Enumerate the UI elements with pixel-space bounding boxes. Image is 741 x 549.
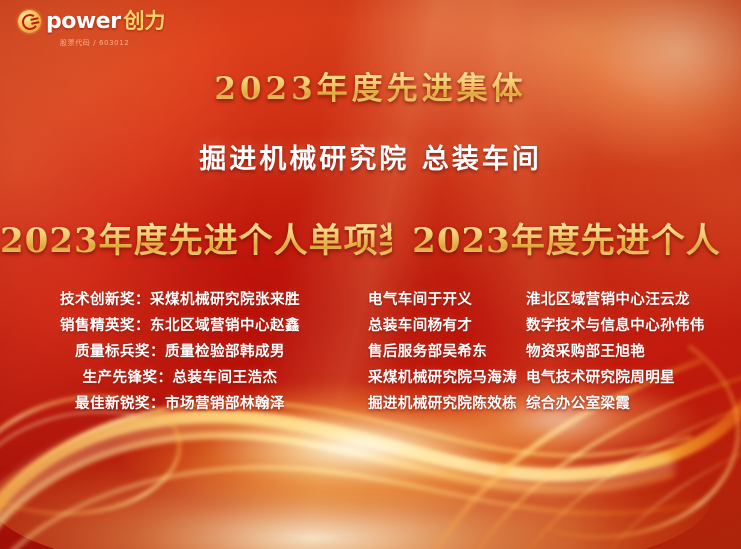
special-award-list: 技术创新奖：采煤机械研究院张来胜 销售精英奖：东北区域营销中心赵鑫 质量标兵奖：… bbox=[0, 287, 360, 417]
award-poster: power 创力 股票代码 / 603012 2023年度先进集体 掘进机械研究… bbox=[0, 0, 741, 549]
list-item: 电气车间于开义 淮北区域营销中心汪云龙 bbox=[360, 287, 741, 313]
logo-name-cn: 创力 bbox=[123, 11, 165, 32]
list-item: 采煤机械研究院马海涛 电气技术研究院周明星 bbox=[360, 365, 741, 391]
list-item: 最佳新锐奖：市场营销部林翰泽 bbox=[0, 391, 360, 417]
list-item: 售后服务部吴希东 物资采购部王旭艳 bbox=[360, 339, 741, 365]
person-name: 淮北区域营销中心汪云龙 bbox=[526, 287, 741, 313]
person-name: 总装车间杨有才 bbox=[360, 313, 526, 339]
company-logo: power 创力 股票代码 / 603012 bbox=[18, 10, 165, 48]
logo-row: power 创力 bbox=[18, 10, 165, 33]
list-item: 生产先锋奖：总装车间王浩杰 bbox=[0, 365, 360, 391]
list-item: 总装车间杨有才 数字技术与信息中心孙伟伟 bbox=[360, 313, 741, 339]
person-name: 采煤机械研究院马海涛 bbox=[360, 365, 526, 391]
power-plug-icon bbox=[18, 10, 41, 33]
section-headings: 2023年度先进个人单项奖 2023年度先进个人 bbox=[0, 213, 741, 262]
heading-individual-special-award: 2023年度先进个人单项奖 bbox=[0, 213, 392, 262]
person-name: 电气车间于开义 bbox=[360, 287, 526, 313]
award-lists: 技术创新奖：采煤机械研究院张来胜 销售精英奖：东北区域营销中心赵鑫 质量标兵奖：… bbox=[0, 287, 741, 417]
list-item: 掘进机械研究院陈效栋 综合办公室梁霞 bbox=[360, 391, 741, 417]
collective-award-winners: 掘进机械研究院 总装车间 bbox=[0, 137, 741, 176]
person-name: 数字技术与信息中心孙伟伟 bbox=[526, 313, 741, 339]
logo-name-en: power bbox=[46, 11, 120, 33]
person-name: 综合办公室梁霞 bbox=[526, 391, 741, 417]
list-item: 技术创新奖：采煤机械研究院张来胜 bbox=[0, 287, 360, 313]
heading-individual-award: 2023年度先进个人 bbox=[392, 213, 741, 262]
person-name: 售后服务部吴希东 bbox=[360, 339, 526, 365]
list-item: 质量标兵奖：质量检验部韩成男 bbox=[0, 339, 360, 365]
person-name: 电气技术研究院周明星 bbox=[526, 365, 741, 391]
stock-code-label: 股票代码 / 603012 bbox=[60, 38, 129, 48]
poster-content: 2023年度先进集体 掘进机械研究院 总装车间 2023年度先进个人单项奖 20… bbox=[0, 0, 741, 549]
person-name: 物资采购部王旭艳 bbox=[526, 339, 741, 365]
individual-award-list: 电气车间于开义 淮北区域营销中心汪云龙 总装车间杨有才 数字技术与信息中心孙伟伟… bbox=[360, 287, 741, 417]
person-name: 掘进机械研究院陈效栋 bbox=[360, 391, 526, 417]
collective-award-title: 2023年度先进集体 bbox=[0, 63, 741, 108]
list-item: 销售精英奖：东北区域营销中心赵鑫 bbox=[0, 313, 360, 339]
